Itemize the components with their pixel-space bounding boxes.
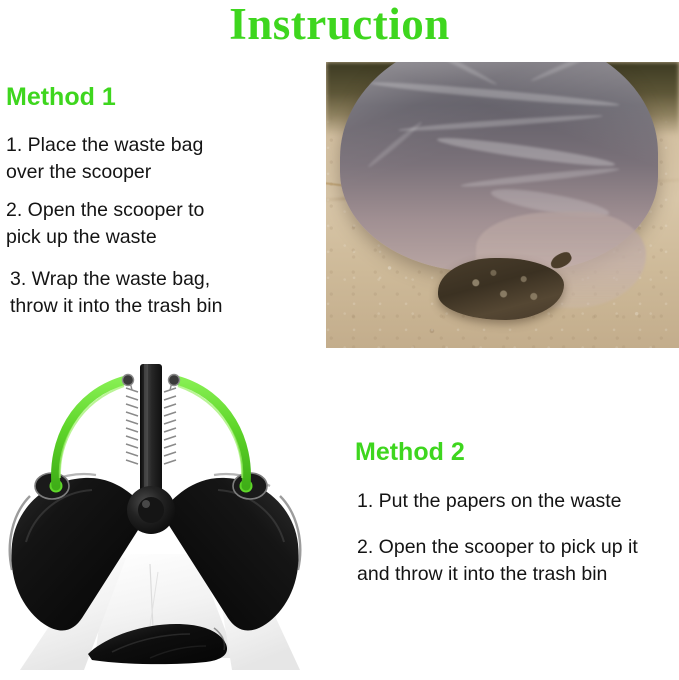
method-2-heading: Method 2 xyxy=(355,438,465,466)
right-spring xyxy=(164,382,176,464)
method-1-heading: Method 1 xyxy=(6,83,116,111)
pivot-hub xyxy=(127,486,175,534)
page-title: Instruction xyxy=(0,0,679,52)
bag-crinkle xyxy=(460,166,620,190)
instruction-page: Instruction Method 1 1. Place the waste … xyxy=(0,0,679,680)
bag-crinkle xyxy=(436,134,616,171)
method-2-step-2: 2. Open the scooper to pick up it and th… xyxy=(357,534,679,588)
scooper-illustration xyxy=(0,358,330,680)
bag-crinkle xyxy=(398,113,603,133)
method-1-step-3: 3. Wrap the waste bag, throw it into the… xyxy=(10,266,320,320)
scooper-product-photo xyxy=(0,358,330,680)
method-1-step-2: 2. Open the scooper to pick up the waste xyxy=(6,197,306,251)
left-spring xyxy=(126,382,138,464)
method-2-step-1: 1. Put the papers on the waste xyxy=(357,488,673,515)
right-handle-arm xyxy=(176,380,246,486)
method-1-step-1: 1. Place the waste bag over the scooper xyxy=(6,132,306,186)
left-handle-arm xyxy=(56,380,126,486)
left-arm-anchor xyxy=(123,375,134,386)
right-arm-anchor xyxy=(169,375,180,386)
bag-over-scooper-photo xyxy=(326,62,679,348)
